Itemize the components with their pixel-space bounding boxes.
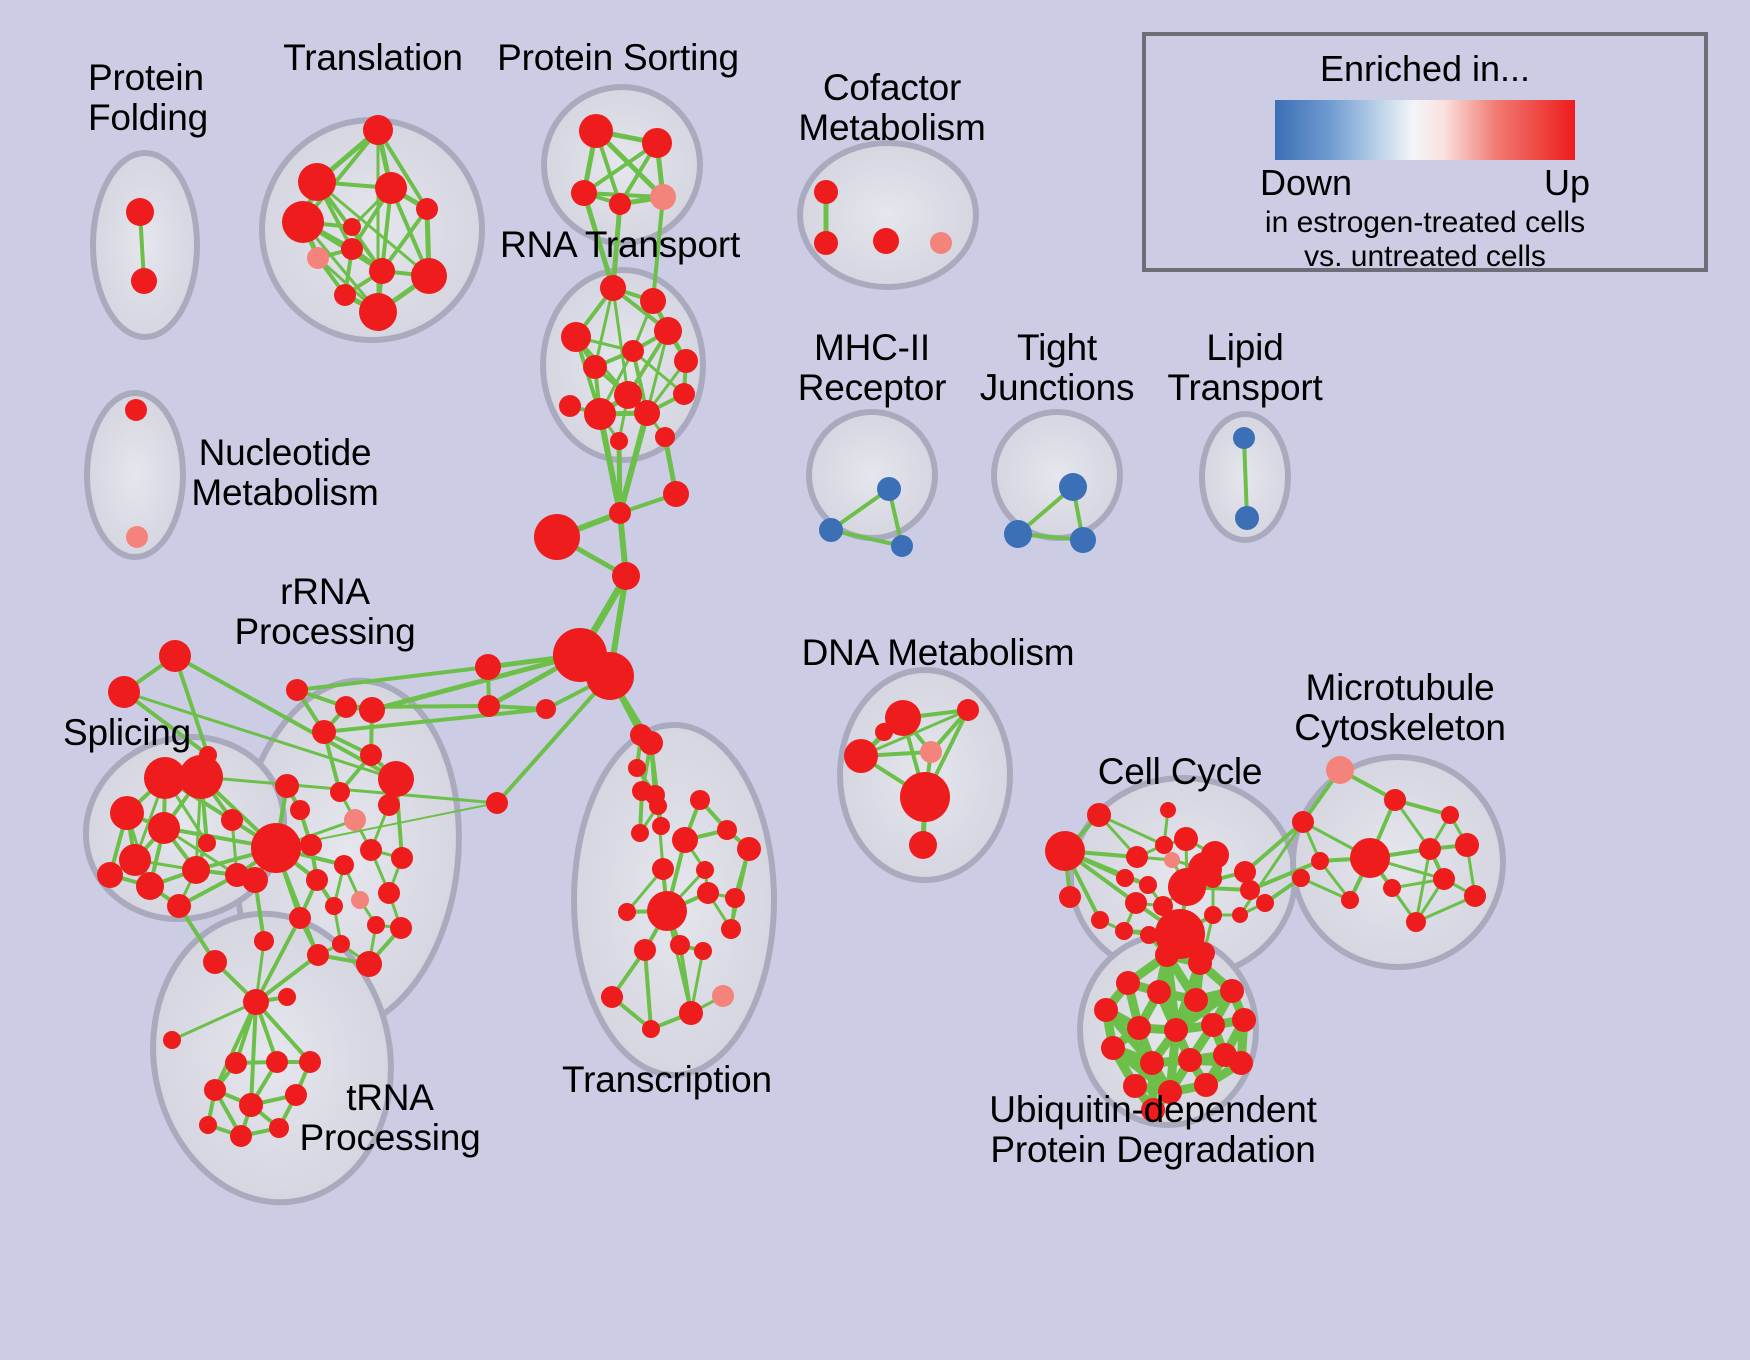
- cluster-label-line: Transport: [1167, 368, 1322, 408]
- network-node[interactable]: [690, 790, 710, 810]
- network-node[interactable]: [239, 1093, 263, 1117]
- network-node[interactable]: [369, 258, 395, 284]
- network-node[interactable]: [1139, 876, 1157, 894]
- network-node[interactable]: [300, 834, 322, 856]
- network-node[interactable]: [930, 232, 952, 254]
- network-node[interactable]: [282, 201, 324, 243]
- network-node[interactable]: [1116, 971, 1140, 995]
- network-node[interactable]: [478, 695, 500, 717]
- cluster-label-line: Microtubule: [1294, 668, 1506, 708]
- cluster-label-splicing: Splicing: [63, 713, 191, 753]
- network-node[interactable]: [1140, 1051, 1164, 1075]
- cluster-label-trna-processing: tRNAProcessing: [299, 1078, 480, 1157]
- cluster-label-line: Metabolism: [798, 108, 985, 148]
- network-node[interactable]: [243, 989, 269, 1015]
- cluster-label-line: Metabolism: [191, 473, 378, 513]
- network-node[interactable]: [363, 115, 393, 145]
- network-node[interactable]: [359, 293, 397, 331]
- legend-title: Enriched in...: [1146, 48, 1704, 90]
- cluster-label-line: Cell Cycle: [1098, 752, 1263, 792]
- network-node[interactable]: [312, 720, 336, 744]
- legend-subtitle-line2: vs. untreated cells: [1146, 240, 1704, 274]
- cluster-label-line: Processing: [299, 1118, 480, 1158]
- network-node[interactable]: [663, 481, 689, 507]
- network-node[interactable]: [254, 931, 274, 951]
- cluster-label-transcription: Transcription: [562, 1060, 772, 1100]
- network-node[interactable]: [1341, 891, 1359, 909]
- network-node[interactable]: [672, 827, 698, 853]
- network-node[interactable]: [1384, 789, 1406, 811]
- network-node[interactable]: [1292, 811, 1314, 833]
- legend-subtitle-line1: in estrogen-treated cells: [1146, 206, 1704, 240]
- cluster-label-lipid-transport: LipidTransport: [1167, 328, 1322, 407]
- network-node[interactable]: [411, 258, 447, 294]
- network-node[interactable]: [221, 809, 243, 831]
- cluster-label-line: Cytoskeleton: [1294, 708, 1506, 748]
- network-node[interactable]: [891, 535, 913, 557]
- network-node[interactable]: [814, 231, 838, 255]
- cluster-hull: [994, 412, 1120, 538]
- cluster-label-line: Processing: [234, 612, 415, 652]
- network-node[interactable]: [674, 349, 698, 373]
- network-node[interactable]: [1383, 879, 1401, 897]
- cluster-label-line: Receptor: [798, 368, 947, 408]
- network-node[interactable]: [536, 699, 556, 719]
- network-node[interactable]: [645, 785, 665, 805]
- network-node[interactable]: [877, 477, 901, 501]
- network-node[interactable]: [167, 894, 191, 918]
- network-node[interactable]: [131, 268, 157, 294]
- network-node[interactable]: [957, 699, 979, 721]
- network-node[interactable]: [819, 518, 843, 542]
- network-node[interactable]: [725, 888, 745, 908]
- network-node[interactable]: [1406, 912, 1426, 932]
- cluster-label-line: Transcription: [562, 1060, 772, 1100]
- network-node[interactable]: [416, 198, 438, 220]
- network-node[interactable]: [697, 882, 719, 904]
- network-node[interactable]: [673, 383, 695, 405]
- network-node[interactable]: [1441, 806, 1459, 824]
- network-node[interactable]: [1178, 1048, 1202, 1072]
- network-node[interactable]: [559, 395, 581, 417]
- network-node[interactable]: [110, 796, 144, 830]
- cluster-label-line: DNA Metabolism: [802, 633, 1075, 673]
- edge: [497, 676, 610, 803]
- cluster-label-ubiquitin-protein-degradation: Ubiquitin-dependentProtein Degradation: [989, 1090, 1316, 1169]
- network-node[interactable]: [1204, 870, 1222, 888]
- network-node[interactable]: [1147, 980, 1171, 1004]
- network-node[interactable]: [1292, 869, 1310, 887]
- network-node[interactable]: [360, 839, 382, 861]
- network-node[interactable]: [307, 944, 329, 966]
- network-node[interactable]: [1455, 833, 1479, 857]
- network-node[interactable]: [844, 739, 878, 773]
- cluster-label-line: MHC-II: [798, 328, 947, 368]
- network-node[interactable]: [332, 935, 350, 953]
- network-node[interactable]: [920, 741, 942, 763]
- network-node[interactable]: [356, 951, 382, 977]
- network-node[interactable]: [1188, 951, 1212, 975]
- network-node[interactable]: [1125, 892, 1147, 914]
- network-node[interactable]: [375, 172, 407, 204]
- network-node[interactable]: [1232, 907, 1248, 923]
- network-node[interactable]: [571, 180, 597, 206]
- network-node[interactable]: [1126, 846, 1148, 868]
- network-node[interactable]: [1070, 527, 1096, 553]
- color-scale-bar: [1275, 100, 1575, 160]
- network-node[interactable]: [1155, 836, 1173, 854]
- legend-box: Enriched in... Down Up in estrogen-treat…: [1142, 32, 1708, 272]
- network-node[interactable]: [655, 427, 675, 447]
- network-node[interactable]: [561, 322, 591, 352]
- network-node[interactable]: [97, 862, 123, 888]
- network-node[interactable]: [1240, 880, 1260, 900]
- network-node[interactable]: [325, 897, 343, 915]
- network-node[interactable]: [600, 275, 626, 301]
- network-node[interactable]: [199, 1116, 217, 1134]
- network-node[interactable]: [670, 935, 690, 955]
- legend-subtitle: in estrogen-treated cells vs. untreated …: [1146, 206, 1704, 274]
- network-node[interactable]: [634, 939, 656, 961]
- network-node[interactable]: [1116, 869, 1134, 887]
- network-node[interactable]: [873, 228, 899, 254]
- cluster-label-line: Lipid: [1167, 328, 1322, 368]
- network-node[interactable]: [1326, 756, 1354, 784]
- network-node[interactable]: [108, 676, 140, 708]
- network-node[interactable]: [1433, 868, 1455, 890]
- network-node[interactable]: [269, 1118, 289, 1138]
- network-node[interactable]: [330, 782, 350, 802]
- cluster-label-translation: Translation: [283, 38, 462, 78]
- network-node[interactable]: [534, 514, 580, 560]
- cluster-label-mhc-ii-receptor: MHC-IIReceptor: [798, 328, 947, 407]
- cluster-label-line: rRNA: [234, 572, 415, 612]
- network-node[interactable]: [344, 809, 366, 831]
- cluster-label-microtubule-cytoskeleton: MicrotubuleCytoskeleton: [1294, 668, 1506, 747]
- network-node[interactable]: [584, 398, 616, 430]
- cluster-label-tight-junctions: TightJunctions: [980, 328, 1135, 407]
- cluster-label-protein-folding: ProteinFolding: [88, 58, 208, 137]
- network-node[interactable]: [136, 872, 164, 900]
- network-node[interactable]: [242, 867, 268, 893]
- network-node[interactable]: [1091, 911, 1109, 929]
- network-node[interactable]: [198, 834, 216, 852]
- network-node[interactable]: [286, 679, 308, 701]
- network-node[interactable]: [696, 861, 714, 879]
- cluster-label-line: Ubiquitin-dependent: [989, 1090, 1316, 1130]
- network-node[interactable]: [341, 238, 363, 260]
- cluster-label-line: Folding: [88, 98, 208, 138]
- network-node[interactable]: [1004, 520, 1032, 548]
- cluster-label-cofactor-metabolism: CofactorMetabolism: [798, 68, 985, 147]
- network-node[interactable]: [1059, 886, 1081, 908]
- cluster-label-rna-transport: RNA Transport: [500, 225, 740, 265]
- network-node[interactable]: [351, 891, 369, 909]
- network-node[interactable]: [721, 919, 741, 939]
- network-node[interactable]: [290, 800, 310, 820]
- cluster-label-line: Translation: [283, 38, 462, 78]
- network-node[interactable]: [307, 247, 329, 269]
- cluster-label-rrna-processing: rRNAProcessing: [234, 572, 415, 651]
- network-node[interactable]: [875, 723, 893, 741]
- network-node[interactable]: [1350, 838, 1390, 878]
- network-node[interactable]: [289, 907, 311, 929]
- cluster-label-line: Protein Degradation: [989, 1130, 1316, 1170]
- network-node[interactable]: [586, 652, 634, 700]
- network-node[interactable]: [631, 824, 649, 842]
- network-node[interactable]: [367, 916, 385, 934]
- cluster-label-cell-cycle: Cell Cycle: [1098, 752, 1263, 792]
- network-node[interactable]: [1164, 1018, 1188, 1042]
- network-node[interactable]: [1087, 803, 1111, 827]
- network-node[interactable]: [652, 858, 674, 880]
- network-node[interactable]: [737, 837, 761, 861]
- network-node[interactable]: [1234, 861, 1256, 883]
- network-node[interactable]: [1045, 831, 1085, 871]
- network-node[interactable]: [1235, 506, 1259, 530]
- network-node[interactable]: [334, 855, 354, 875]
- network-node[interactable]: [335, 696, 357, 718]
- cluster-label-line: Cofactor: [798, 68, 985, 108]
- network-node[interactable]: [601, 986, 623, 1008]
- network-node[interactable]: [266, 1051, 288, 1073]
- network-node[interactable]: [654, 317, 682, 345]
- network-node[interactable]: [1127, 1016, 1151, 1040]
- network-node[interactable]: [126, 526, 148, 548]
- cluster-label-line: Protein Sorting: [497, 38, 739, 78]
- network-node[interactable]: [717, 820, 737, 840]
- network-node[interactable]: [652, 817, 670, 835]
- network-node[interactable]: [640, 288, 666, 314]
- network-node[interactable]: [182, 856, 210, 884]
- network-node[interactable]: [390, 917, 412, 939]
- network-node[interactable]: [203, 950, 227, 974]
- network-node[interactable]: [251, 823, 301, 873]
- network-node[interactable]: [712, 985, 734, 1007]
- network-node[interactable]: [634, 400, 660, 426]
- network-node[interactable]: [1311, 852, 1329, 870]
- network-node[interactable]: [630, 724, 652, 746]
- network-node[interactable]: [179, 755, 223, 799]
- network-node[interactable]: [1155, 943, 1179, 967]
- network-node[interactable]: [343, 218, 361, 236]
- network-node[interactable]: [1233, 427, 1255, 449]
- network-node[interactable]: [159, 640, 191, 672]
- network-node[interactable]: [900, 772, 950, 822]
- network-node[interactable]: [579, 114, 613, 148]
- legend-endpoints: Down Up: [1260, 162, 1590, 204]
- network-node[interactable]: [1164, 852, 1180, 868]
- network-node[interactable]: [204, 1079, 226, 1101]
- network-node[interactable]: [225, 1052, 247, 1074]
- network-node[interactable]: [1229, 1051, 1253, 1075]
- network-node[interactable]: [909, 831, 937, 859]
- cluster-label-line: RNA Transport: [500, 225, 740, 265]
- network-node[interactable]: [1232, 1008, 1256, 1032]
- network-node[interactable]: [1101, 1036, 1125, 1060]
- network-node[interactable]: [306, 869, 328, 891]
- network-node[interactable]: [359, 697, 385, 723]
- cluster-label-line: tRNA: [299, 1078, 480, 1118]
- cluster-label-line: Splicing: [63, 713, 191, 753]
- network-node[interactable]: [609, 193, 631, 215]
- network-node[interactable]: [1220, 979, 1244, 1003]
- network-node[interactable]: [1204, 906, 1222, 924]
- network-node[interactable]: [694, 942, 712, 960]
- network-node[interactable]: [612, 562, 640, 590]
- network-node[interactable]: [650, 184, 676, 210]
- network-node[interactable]: [360, 744, 382, 766]
- network-node[interactable]: [609, 502, 631, 524]
- network-node[interactable]: [334, 284, 356, 306]
- network-node[interactable]: [642, 1020, 660, 1038]
- network-node[interactable]: [230, 1125, 252, 1147]
- cluster-label-line: Junctions: [980, 368, 1135, 408]
- network-node[interactable]: [814, 180, 838, 204]
- network-node[interactable]: [298, 163, 336, 201]
- network-node[interactable]: [679, 1001, 703, 1025]
- network-node[interactable]: [1140, 926, 1158, 944]
- network-node[interactable]: [126, 198, 154, 226]
- network-node[interactable]: [1174, 827, 1198, 851]
- network-node[interactable]: [278, 988, 296, 1006]
- network-node[interactable]: [1168, 868, 1206, 906]
- network-node[interactable]: [642, 128, 672, 158]
- network-node[interactable]: [1201, 1013, 1225, 1037]
- legend-down-label: Down: [1260, 162, 1352, 204]
- cluster-label-line: Nucleotide: [191, 433, 378, 473]
- network-node[interactable]: [647, 891, 687, 931]
- network-node[interactable]: [119, 844, 151, 876]
- network-node[interactable]: [1419, 838, 1441, 860]
- network-node[interactable]: [378, 794, 400, 816]
- network-node[interactable]: [378, 882, 400, 904]
- network-node[interactable]: [1160, 802, 1176, 818]
- cluster-hull: [93, 153, 197, 337]
- cluster-label-dna-metabolism: DNA Metabolism: [802, 633, 1075, 673]
- legend-up-label: Up: [1544, 162, 1590, 204]
- network-node[interactable]: [583, 355, 607, 379]
- cluster-label-protein-sorting: Protein Sorting: [497, 38, 739, 78]
- network-node[interactable]: [163, 1031, 181, 1049]
- network-node[interactable]: [1184, 988, 1208, 1012]
- cluster-label-line: Tight: [980, 328, 1135, 368]
- network-node[interactable]: [1059, 473, 1087, 501]
- network-node[interactable]: [1094, 998, 1118, 1022]
- enrichment-map-figure: ProteinFoldingTranslationProtein Sorting…: [0, 0, 1750, 1360]
- network-node[interactable]: [622, 340, 644, 362]
- network-node[interactable]: [148, 812, 180, 844]
- network-node[interactable]: [391, 847, 413, 869]
- network-node[interactable]: [1464, 885, 1486, 907]
- network-node[interactable]: [610, 432, 628, 450]
- network-node[interactable]: [628, 759, 646, 777]
- network-node[interactable]: [378, 761, 414, 797]
- network-node[interactable]: [1115, 922, 1133, 940]
- network-node[interactable]: [618, 903, 636, 921]
- network-node[interactable]: [275, 774, 299, 798]
- network-node[interactable]: [125, 399, 147, 421]
- network-node[interactable]: [1256, 894, 1274, 912]
- network-node[interactable]: [475, 654, 501, 680]
- network-node[interactable]: [486, 792, 508, 814]
- cluster-label-line: Protein: [88, 58, 208, 98]
- cluster-label-nucleotide-metabolism: NucleotideMetabolism: [191, 433, 378, 512]
- network-node[interactable]: [299, 1051, 321, 1073]
